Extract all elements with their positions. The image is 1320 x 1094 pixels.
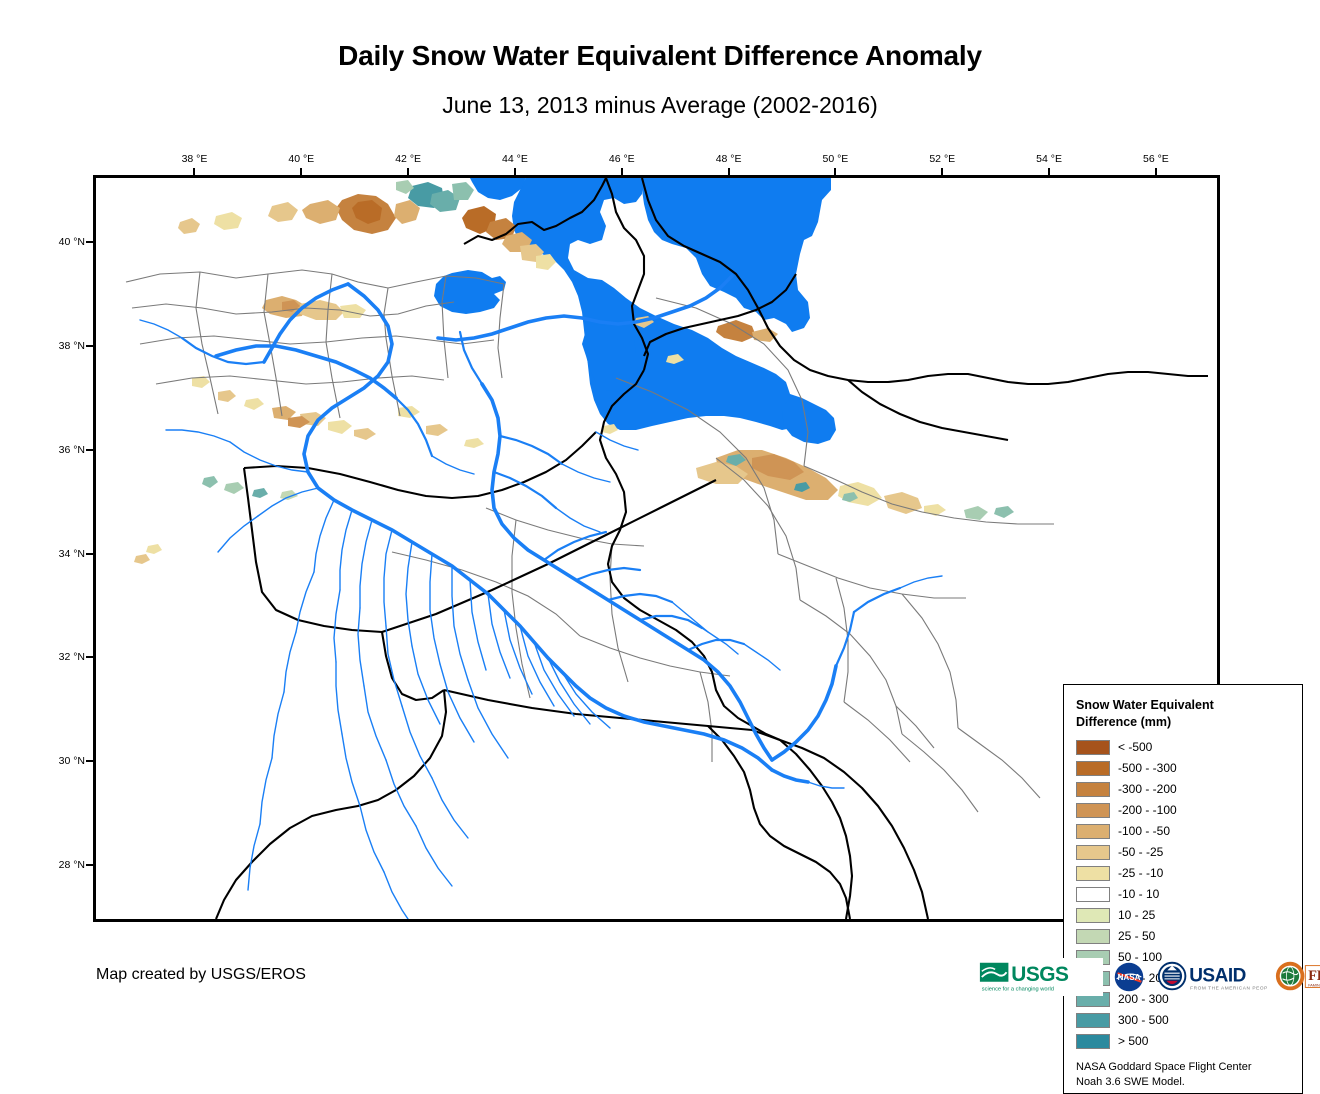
legend-row: -200 - -100	[1076, 800, 1292, 821]
longitude-tick-mark	[514, 168, 516, 175]
legend-swatch	[1076, 1034, 1110, 1049]
legend-swatch	[1076, 845, 1110, 860]
longitude-tick-mark	[407, 168, 409, 175]
legend-row: -25 - -10	[1076, 863, 1292, 884]
longitude-label: 56 °E	[1143, 153, 1169, 165]
latitude-tick-mark	[86, 449, 93, 451]
legend-label: 25 - 50	[1118, 929, 1155, 943]
river-euphrates-upper-branch	[264, 284, 348, 362]
legend-row: > 500	[1076, 1031, 1292, 1052]
legend-row: < -500	[1076, 737, 1292, 758]
longitude-label: 50 °E	[823, 153, 849, 165]
map-container[interactable]: 38 °E40 °E42 °E44 °E46 °E48 °E50 °E52 °E…	[93, 175, 1220, 922]
legend-swatch	[1076, 740, 1110, 755]
legend-swatch	[1076, 929, 1110, 944]
legend-class-list: < -500-500 - -300-300 - -200-200 - -100-…	[1076, 737, 1292, 1052]
svg-text:science for a changing world: science for a changing world	[982, 986, 1054, 992]
latitude-label: 30 °N	[59, 755, 85, 767]
legend-label: < -500	[1118, 740, 1152, 754]
legend-label: -10 - 10	[1118, 887, 1159, 901]
legend-label: 300 - 500	[1118, 1013, 1169, 1027]
anomaly-alborz	[696, 450, 1014, 520]
legend-label: -500 - -300	[1118, 761, 1177, 775]
legend-swatch	[1076, 1013, 1110, 1028]
persian-gulf	[796, 798, 1016, 919]
legend-swatch	[1076, 782, 1110, 797]
longitude-label: 42 °E	[395, 153, 421, 165]
river-aras	[216, 346, 396, 398]
longitude-label: 54 °E	[1036, 153, 1062, 165]
longitude-tick-mark	[1155, 168, 1157, 175]
longitude-tick-mark	[300, 168, 302, 175]
latitude-tick-mark	[86, 553, 93, 555]
latitude-tick-mark	[86, 345, 93, 347]
legend-swatch	[1076, 866, 1110, 881]
legend-label: -200 - -100	[1118, 803, 1177, 817]
fewsnet-logo[interactable]: FEWS NET FAMINE EARLY WARNING SYSTEMS NE…	[1274, 958, 1320, 996]
legend-row: -100 - -50	[1076, 821, 1292, 842]
latitude-label: 28 °N	[59, 859, 85, 871]
caspian-sea	[642, 178, 831, 332]
water-bodies	[434, 178, 1016, 919]
svg-text:FAMINE EARLY WARNING SYSTEMS N: FAMINE EARLY WARNING SYSTEMS NETWORK	[1309, 983, 1320, 987]
legend-row: 25 - 50	[1076, 926, 1292, 947]
legend-swatch	[1076, 908, 1110, 923]
nasa-logo[interactable]: NASA	[1110, 958, 1148, 996]
border-jordan-saudi	[216, 690, 446, 919]
legend-swatch	[1076, 761, 1110, 776]
longitude-tick-mark	[1048, 168, 1050, 175]
latitude-tick-mark	[86, 864, 93, 866]
legend-label: > 500	[1118, 1034, 1148, 1048]
legend-label: -25 - -10	[1118, 866, 1163, 880]
usgs-logo[interactable]: USGS science for a changing world	[978, 958, 1103, 996]
longitude-label: 46 °E	[609, 153, 635, 165]
title-block: Daily Snow Water Equivalent Difference A…	[0, 0, 1320, 119]
latitude-label: 32 °N	[59, 651, 85, 663]
border-iraq-saudi	[444, 690, 780, 740]
border-turkey-syria	[244, 432, 596, 498]
map-frame	[93, 175, 1220, 922]
longitude-label: 48 °E	[716, 153, 742, 165]
longitude-label: 40 °E	[288, 153, 314, 165]
longitude-tick-mark	[193, 168, 195, 175]
longitude-tick-mark	[621, 168, 623, 175]
river-karun	[772, 666, 836, 760]
latitude-tick-mark	[86, 241, 93, 243]
anomaly-pontic	[178, 194, 420, 234]
legend-swatch	[1076, 824, 1110, 839]
svg-text:USAID: USAID	[1190, 966, 1247, 987]
svg-text:USGS: USGS	[1011, 963, 1069, 986]
legend-row: -300 - -200	[1076, 779, 1292, 800]
border-iran-turkmenistan	[848, 380, 1008, 440]
agency-logos: USGS science for a changing world NASA U…	[978, 957, 1320, 997]
legend-label: 10 - 25	[1118, 908, 1155, 922]
river-confluence	[772, 770, 808, 782]
page-subtitle: June 13, 2013 minus Average (2002-2016)	[0, 92, 1320, 119]
legend-label: -300 - -200	[1118, 782, 1177, 796]
legend-swatch	[1076, 887, 1110, 902]
map-legend[interactable]: Snow Water Equivalent Difference (mm) < …	[1063, 684, 1303, 1094]
latitude-label: 34 °N	[59, 548, 85, 560]
page-title: Daily Snow Water Equivalent Difference A…	[0, 40, 1320, 72]
longitude-label: 44 °E	[502, 153, 528, 165]
legend-label: -100 - -50	[1118, 824, 1170, 838]
latitude-label: 36 °N	[59, 444, 85, 456]
latitude-tick-mark	[86, 656, 93, 658]
legend-title: Snow Water Equivalent Difference (mm)	[1076, 697, 1292, 731]
legend-source-note: NASA Goddard Space Flight Center Noah 3.…	[1076, 1060, 1292, 1090]
svg-text:NASA: NASA	[1118, 973, 1141, 982]
map-canvas[interactable]	[96, 178, 1217, 919]
longitude-label: 38 °E	[182, 153, 208, 165]
svg-text:FEWS NET: FEWS NET	[1309, 968, 1320, 984]
map-credit: Map created by USGS/EROS	[96, 966, 306, 984]
caspian-sea-southeast	[782, 394, 836, 444]
longitude-tick-mark	[941, 168, 943, 175]
longitude-label: 52 °E	[929, 153, 955, 165]
legend-row: 10 - 25	[1076, 905, 1292, 926]
svg-text:FROM THE AMERICAN PEOPLE: FROM THE AMERICAN PEOPLE	[1191, 985, 1268, 991]
longitude-tick-mark	[834, 168, 836, 175]
legend-row: -500 - -300	[1076, 758, 1292, 779]
longitude-tick-mark	[728, 168, 730, 175]
latitude-label: 40 °N	[59, 236, 85, 248]
latitude-tick-mark	[86, 760, 93, 762]
legend-row: -10 - 10	[1076, 884, 1292, 905]
legend-label: -50 - -25	[1118, 845, 1163, 859]
latitude-label: 38 °N	[59, 340, 85, 352]
usaid-logo[interactable]: USAID FROM THE AMERICAN PEOPLE	[1155, 958, 1267, 996]
legend-row: 300 - 500	[1076, 1010, 1292, 1031]
legend-row: -50 - -25	[1076, 842, 1292, 863]
legend-swatch	[1076, 803, 1110, 818]
